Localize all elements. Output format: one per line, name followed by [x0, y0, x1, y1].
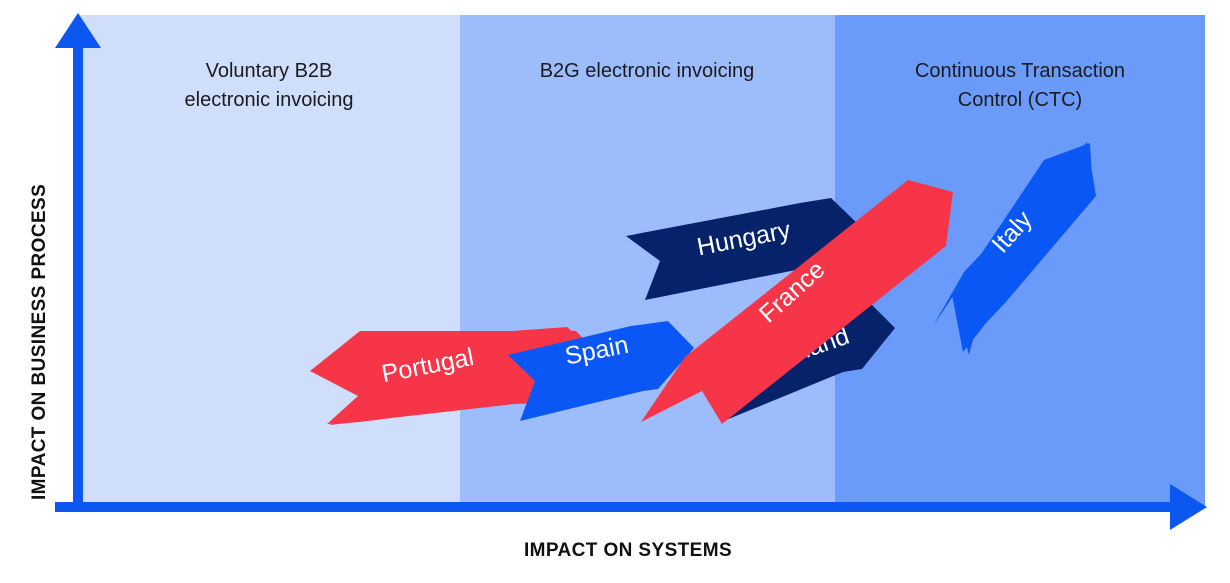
band-label-ctc-line1: Continuous Transaction: [915, 60, 1125, 82]
y-axis-title: IMPACT ON BUSINESS PROCESS: [29, 184, 50, 500]
band-label-voluntary-b2b-line1: Voluntary B2B: [206, 60, 333, 82]
y-axis-line: [73, 28, 83, 510]
band-label-voluntary-b2b-line2: electronic invoicing: [185, 89, 354, 111]
band-label-ctc-line2: Control (CTC): [958, 89, 1082, 111]
diagram-canvas: Voluntary B2B electronic invoicing B2G e…: [0, 0, 1230, 583]
x-axis-title: IMPACT ON SYSTEMS: [524, 540, 732, 561]
x-axis-line: [55, 502, 1181, 512]
band-label-b2g-line1: B2G electronic invoicing: [540, 60, 755, 82]
